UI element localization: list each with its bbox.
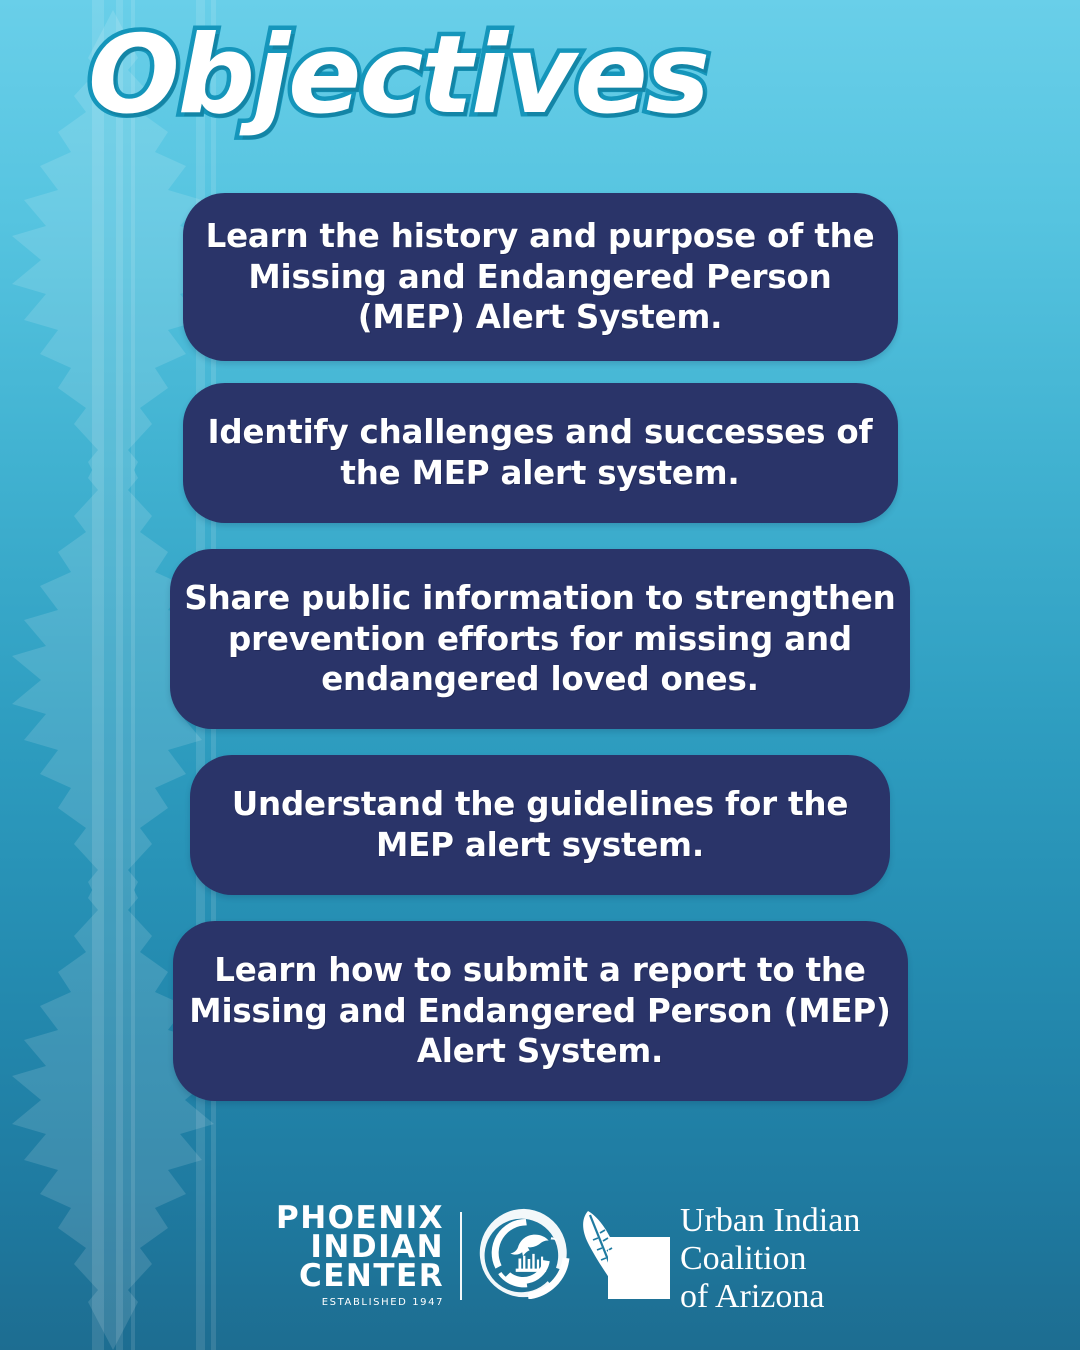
pic-wordmark: PHOENIX INDIAN CENTER ESTABLISHED 1947 <box>276 1204 444 1308</box>
poster-canvas: Objectives Learn the history and purpose… <box>0 0 1080 1350</box>
objective-card-2: Identify challenges and successes of the… <box>183 383 898 523</box>
objective-text-1: Learn the history and purpose of the Mis… <box>183 216 898 339</box>
uica-line-1: Urban Indian <box>680 1202 860 1240</box>
objective-text-2: Identify challenges and successes of the… <box>183 412 898 494</box>
urban-indian-coalition-logo: Urban Indian Coalition of Arizona <box>578 1202 860 1316</box>
title-area: Objectives <box>0 8 1080 158</box>
objective-card-1: Learn the history and purpose of the Mis… <box>183 193 898 361</box>
objective-text-5: Learn how to submit a report to the Miss… <box>173 950 908 1073</box>
objective-card-4: Understand the guidelines for the MEP al… <box>190 755 890 895</box>
uica-wordmark: Urban Indian Coalition of Arizona <box>680 1202 860 1316</box>
uica-line-2: Coalition <box>680 1240 860 1278</box>
feather-icon <box>578 1205 674 1314</box>
objective-card-3: Share public information to strengthen p… <box>170 549 910 729</box>
footer-logos: PHOENIX INDIAN CENTER ESTABLISHED 1947 <box>0 1196 1080 1326</box>
page-title: Objectives <box>88 14 708 138</box>
objectives-list: Learn the history and purpose of the Mis… <box>0 193 1080 1101</box>
objective-card-5: Learn how to submit a report to the Miss… <box>173 921 908 1101</box>
pic-line-3: CENTER <box>299 1262 444 1291</box>
phoenix-indian-center-logo: PHOENIX INDIAN CENTER ESTABLISHED 1947 <box>276 1204 570 1308</box>
logo-divider <box>460 1212 462 1300</box>
uica-line-3: of Arizona <box>680 1278 860 1316</box>
objective-text-3: Share public information to strengthen p… <box>170 578 910 701</box>
phoenix-bird-circle-icon <box>478 1207 570 1304</box>
objective-text-4: Understand the guidelines for the MEP al… <box>190 784 890 866</box>
pic-established: ESTABLISHED 1947 <box>322 1298 444 1307</box>
